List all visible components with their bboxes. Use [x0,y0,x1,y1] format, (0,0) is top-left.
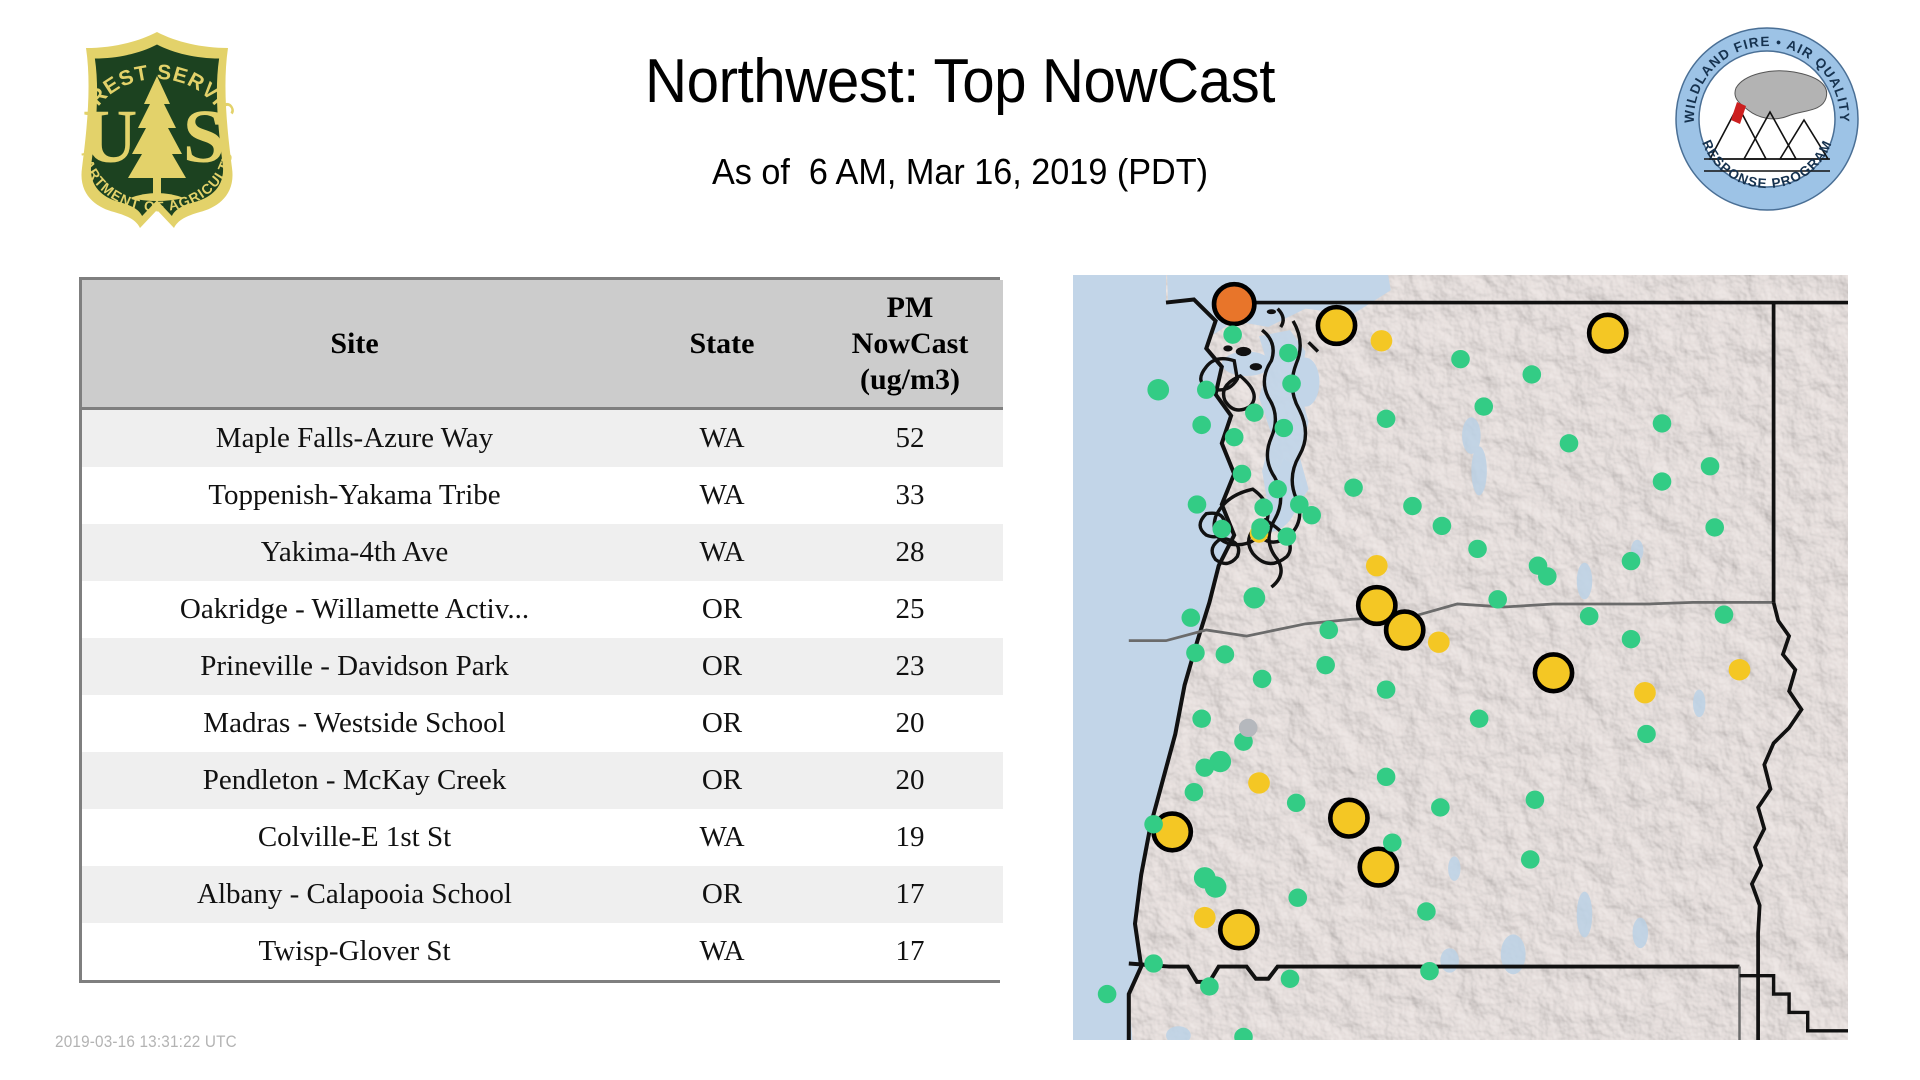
site-cell: Oakridge - Willamette Activ... [82,581,627,638]
map-marker[interactable] [1622,552,1641,570]
forest-service-logo: FOREST SERVICE U S DEPARTMENT OF AGRICUL… [52,28,262,236]
table-row[interactable]: Maple Falls-Azure WayWA52 [82,409,1003,468]
map-marker[interactable] [1653,414,1672,432]
map-marker[interactable] [1488,590,1507,608]
table-row[interactable]: Albany - Calapooia SchoolOR17 [82,866,1003,923]
table-header-row: Site State PM NowCast (ug/m3) [82,280,1003,409]
map-marker[interactable] [1701,457,1720,475]
map-marker[interactable] [1197,381,1216,399]
value-cell: 52 [817,409,1003,468]
map-marker[interactable] [1319,621,1338,639]
map-marker[interactable] [1223,325,1242,343]
map-marker[interactable] [1186,644,1205,662]
map-marker[interactable] [1216,645,1235,663]
site-cell: Madras - Westside School [82,695,627,752]
map-marker[interactable] [1192,710,1211,728]
map-marker[interactable] [1521,850,1540,868]
state-cell: OR [627,866,817,923]
table-row[interactable]: Pendleton - McKay CreekOR20 [82,752,1003,809]
table-row[interactable]: Colville-E 1st StWA19 [82,809,1003,866]
map-marker[interactable] [1281,970,1300,988]
state-cell: WA [627,524,817,581]
map-marker[interactable] [1470,710,1489,728]
map-marker[interactable] [1417,902,1436,920]
map-marker[interactable] [1468,540,1487,558]
map-marker[interactable] [1523,365,1542,383]
value-cell: 19 [817,809,1003,866]
map-marker[interactable] [1433,517,1452,535]
map-marker[interactable] [1182,609,1201,627]
map-marker[interactable] [1344,478,1363,496]
map-marker[interactable] [1428,631,1450,652]
state-cell: OR [627,695,817,752]
northwest-monitor-map[interactable] [1073,275,1848,1040]
map-marker[interactable] [1538,567,1557,585]
pm-nowcast-line-2: NowCast [817,326,1003,362]
state-cell: WA [627,409,817,468]
map-marker[interactable] [1248,772,1270,793]
value-cell: 17 [817,923,1003,980]
table-row[interactable]: Madras - Westside SchoolOR20 [82,695,1003,752]
table-row[interactable]: Toppenish-Yakama TribeWA33 [82,467,1003,524]
map-marker-highlighted[interactable] [1360,849,1397,886]
value-cell: 20 [817,695,1003,752]
site-cell: Yakima-4th Ave [82,524,627,581]
table-row[interactable]: Twisp-Glover StWA17 [82,923,1003,980]
pm-nowcast-line-1: PM [817,290,1003,326]
top-nowcast-table: Site State PM NowCast (ug/m3) Maple Fall… [79,277,1000,983]
map-marker[interactable] [1282,374,1301,392]
map-marker[interactable] [1251,524,1267,539]
map-marker[interactable] [1195,758,1214,776]
map-marker-highlighted[interactable] [1214,284,1254,324]
map-marker[interactable] [1188,495,1207,513]
map-marker[interactable] [1185,783,1204,801]
state-cell: OR [627,638,817,695]
map-marker[interactable] [1278,527,1297,545]
map-marker[interactable] [1239,719,1258,737]
map-marker[interactable] [1268,480,1287,498]
map-marker[interactable] [1715,605,1734,623]
site-cell: Pendleton - McKay Creek [82,752,627,809]
map-marker[interactable] [1560,434,1579,452]
column-header-state[interactable]: State [627,280,817,409]
map-marker[interactable] [1377,410,1396,428]
map-marker[interactable] [1371,330,1393,351]
site-cell: Albany - Calapooia School [82,866,627,923]
map-marker[interactable] [1254,498,1273,516]
map-marker-highlighted[interactable] [1330,800,1367,837]
map-marker-highlighted[interactable] [1535,654,1572,691]
map-marker-highlighted[interactable] [1589,315,1626,352]
map-marker[interactable] [1580,607,1599,625]
table-row[interactable]: Oakridge - Willamette Activ...OR25 [82,581,1003,638]
map-marker[interactable] [1279,344,1298,362]
map-marker[interactable] [1245,404,1264,422]
value-cell: 17 [817,866,1003,923]
map-marker[interactable] [1253,670,1272,688]
state-cell: WA [627,923,817,980]
map-marker[interactable] [1634,682,1656,703]
map-marker[interactable] [1144,815,1163,833]
map-marker[interactable] [1213,520,1232,538]
value-cell: 25 [817,581,1003,638]
map-marker[interactable] [1420,962,1439,980]
map-marker[interactable] [1194,867,1216,888]
table-row[interactable]: Yakima-4th AveWA28 [82,524,1003,581]
map-marker[interactable] [1377,768,1396,786]
page-subtitle: As of 6 AM, Mar 16, 2019 (PDT) [333,150,1587,194]
table-row[interactable]: Prineville - Davidson ParkOR23 [82,638,1003,695]
map-marker[interactable] [1287,794,1306,812]
map-marker[interactable] [1192,416,1211,434]
page-title: Northwest: Top NowCast [340,46,1581,118]
site-cell: Maple Falls-Azure Way [82,409,627,468]
wfaqrp-logo: WILDLAND FIRE • AIR QUALITY RESPONSE PRO… [1674,26,1860,212]
map-marker[interactable] [1637,725,1656,743]
map-marker[interactable] [1200,977,1219,995]
map-marker[interactable] [1366,555,1388,576]
map-marker[interactable] [1302,506,1321,524]
map-marker[interactable] [1705,518,1724,536]
value-cell: 33 [817,467,1003,524]
state-cell: OR [627,752,817,809]
value-cell: 23 [817,638,1003,695]
map-marker-highlighted[interactable] [1386,612,1423,649]
state-cell: OR [627,581,817,638]
map-marker[interactable] [1288,889,1307,907]
state-cell: WA [627,809,817,866]
map-marker-highlighted[interactable] [1220,911,1257,948]
map-marker[interactable] [1622,630,1641,648]
map-marker[interactable] [1275,419,1294,437]
map-marker[interactable] [1474,397,1493,415]
map-marker[interactable] [1729,659,1751,680]
map-marker[interactable] [1383,833,1402,851]
map-marker[interactable] [1526,791,1545,809]
map-marker[interactable] [1403,497,1422,515]
map-marker[interactable] [1653,472,1672,490]
map-marker[interactable] [1316,656,1335,674]
site-cell: Colville-E 1st St [82,809,627,866]
map-marker[interactable] [1377,680,1396,698]
generated-timestamp: 2019-03-16 13:31:22 UTC [55,1032,237,1052]
site-cell: Toppenish-Yakama Tribe [82,467,627,524]
map-marker[interactable] [1098,985,1117,1003]
map-marker[interactable] [1194,907,1216,928]
site-cell: Prineville - Davidson Park [82,638,627,695]
map-marker[interactable] [1451,350,1470,368]
map-marker[interactable] [1147,379,1169,400]
map-marker[interactable] [1431,798,1450,816]
map-marker[interactable] [1233,465,1252,483]
value-cell: 20 [817,752,1003,809]
pm-nowcast-line-3: (ug/m3) [817,362,1003,398]
column-header-site[interactable]: Site [82,280,627,409]
column-header-pm-nowcast[interactable]: PM NowCast (ug/m3) [817,280,1003,409]
map-marker[interactable] [1225,428,1244,446]
map-marker-highlighted[interactable] [1318,307,1355,344]
map-marker[interactable] [1244,587,1266,608]
value-cell: 28 [817,524,1003,581]
map-marker[interactable] [1144,954,1163,972]
site-cell: Twisp-Glover St [82,923,627,980]
state-cell: WA [627,467,817,524]
